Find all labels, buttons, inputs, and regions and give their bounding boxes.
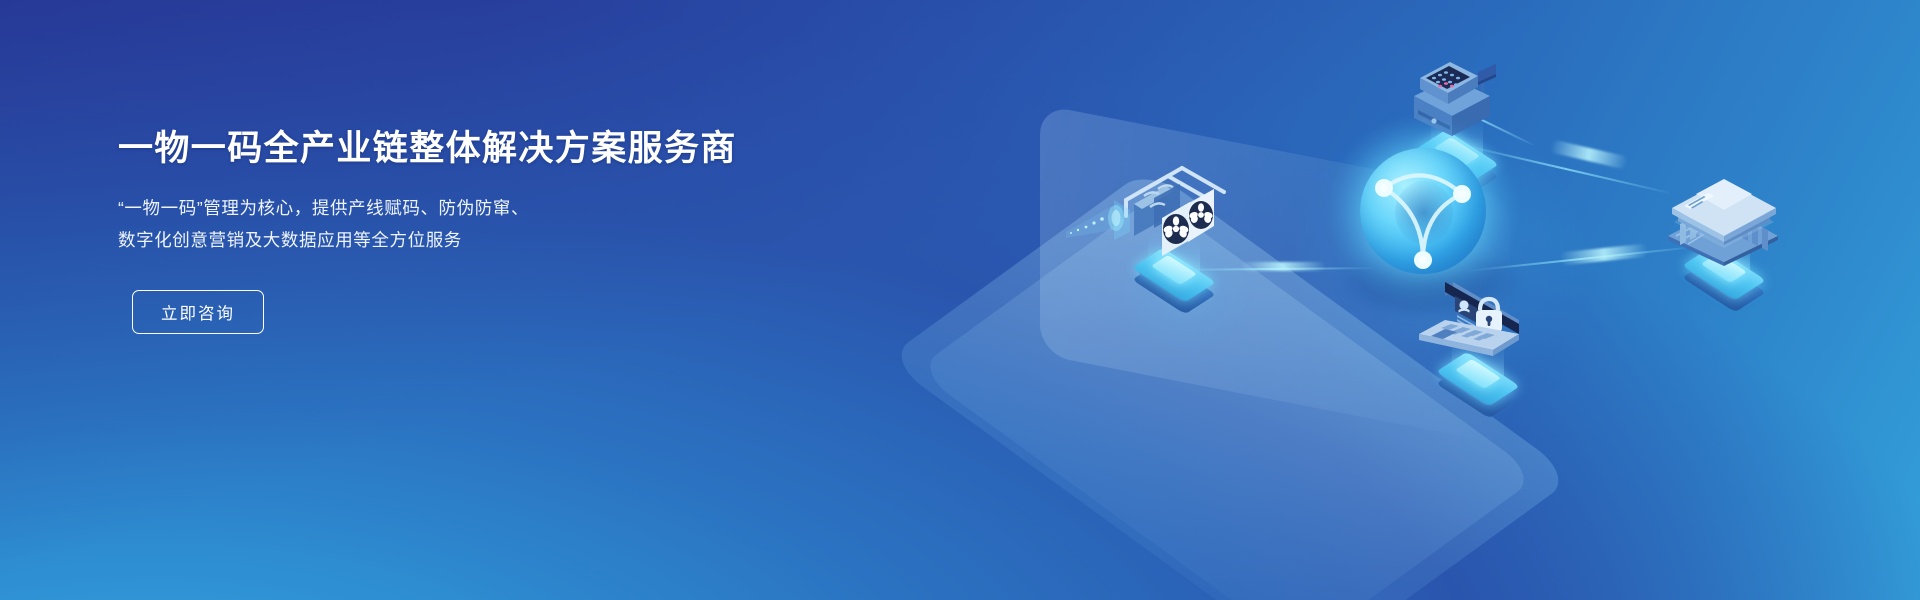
pulse-globe-to-bank — [1550, 139, 1629, 169]
hero-banner: 一物一码全产业链整体解决方案服务商 “一物一码”管理为核心，提供产线赋码、防伪防… — [0, 0, 1920, 600]
hero-subtitle: “一物一码”管理为核心，提供产线赋码、防伪防窜、 数字化创意营销及大数据应用等全… — [118, 192, 758, 256]
hero-copy: 一物一码全产业链整体解决方案服务商 “一物一码”管理为核心，提供产线赋码、防伪防… — [118, 128, 758, 334]
subtitle-line-2: 数字化创意营销及大数据应用等全方位服务 — [118, 224, 758, 256]
laptop-lock-icon — [1415, 268, 1547, 374]
network-sphere-icon — [1360, 148, 1486, 274]
bank-building-icon — [1658, 150, 1790, 266]
hero-illustration — [860, 0, 1920, 600]
pulse-rack-to-globe — [1240, 262, 1326, 271]
consult-now-button[interactable]: 立即咨询 — [132, 290, 264, 334]
subtitle-line-1: “一物一码”管理为核心，提供产线赋码、防伪防窜、 — [118, 192, 758, 224]
scan-beam-icon — [1058, 192, 1138, 244]
page-title: 一物一码全产业链整体解决方案服务商 — [118, 128, 758, 170]
